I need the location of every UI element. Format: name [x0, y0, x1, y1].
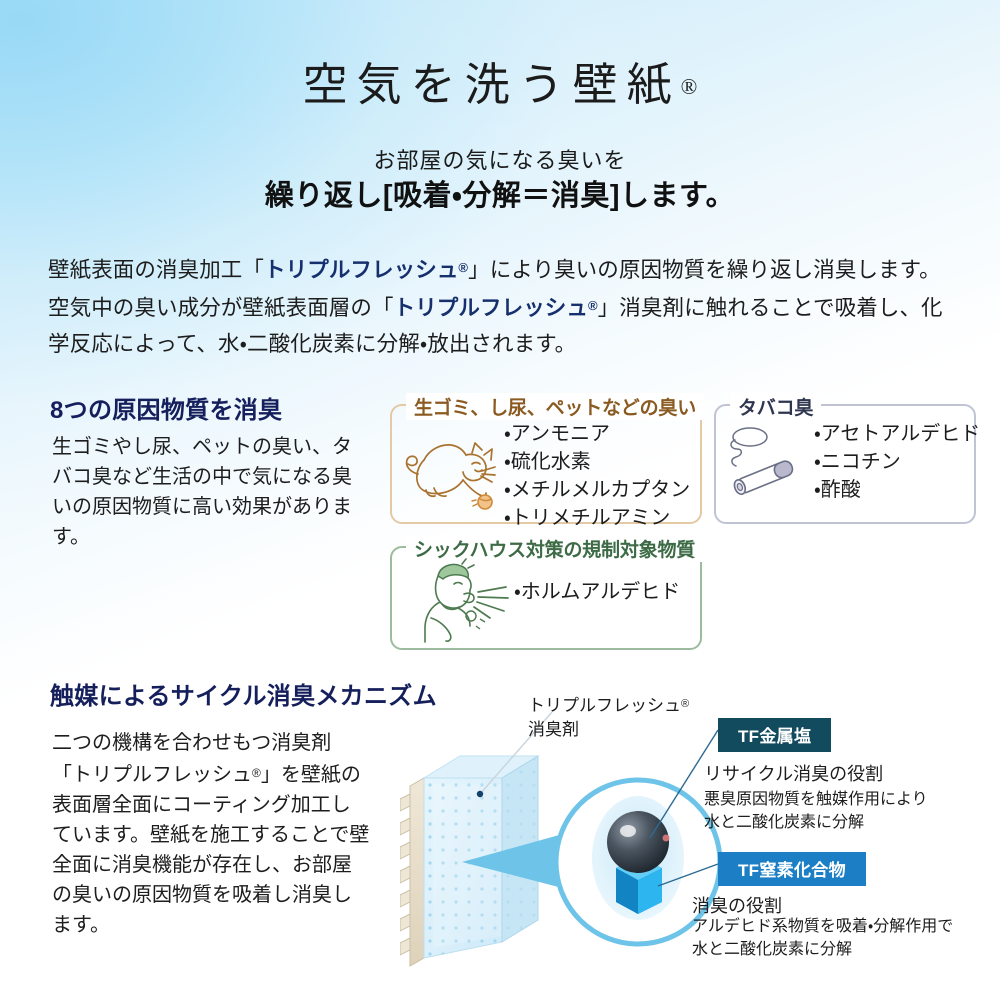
callout-line: 悪臭原因物質を触媒作用により — [704, 788, 928, 811]
sneezing-person-icon — [414, 556, 512, 646]
callout-tf-nitrogen-body: アルデヒド系物質を吸着・分解作用で 水と二酸化炭素に分解 — [692, 915, 953, 961]
registered-mark-icon: ® — [588, 298, 598, 313]
list-item: ・酢酸 — [814, 476, 980, 504]
odor-section-body: 生ゴミやし尿、ペットの臭い、タバコ臭など生活の中で気になる臭いの原因物質に高い効… — [52, 432, 352, 552]
callout-line: アルデヒド系物質を吸着・分解作用で — [692, 915, 953, 938]
diagram-wallpaper-label: トリプルフレッシュ® 消臭剤 — [528, 692, 689, 742]
odor-box-tobacco-items: ・アセトアルデヒド ・ニコチン ・酢酸 — [814, 420, 980, 504]
diagram-wallpaper-label-line2: 消臭剤 — [528, 718, 689, 742]
registered-mark-icon: ® — [252, 766, 261, 780]
page-root: 空気を洗う壁紙® お部屋の気になる臭いを 繰り返し[吸着・分解＝消臭]します。 … — [0, 0, 1000, 1000]
callout-line: 水と二酸化炭素に分解 — [692, 938, 953, 961]
badge-tf-metal-salt: TF金属塩 — [718, 718, 831, 752]
cat-icon — [396, 422, 504, 510]
odor-box-tobacco: タバコ臭 ・アセトアルデヒド ・ニコチン ・酢酸 — [714, 404, 976, 524]
subtitle-line-1: お部屋の気になる臭いを — [0, 143, 1000, 175]
brand-name-2: トリプルフレッシュ® — [394, 296, 598, 320]
odor-box-waste-pets-items: ・アンモニア ・硫化水素 ・メチルメルカプタン ・トリメチルアミン — [504, 420, 690, 532]
list-item: ・アンモニア — [504, 420, 690, 448]
brand-name-1-text: トリプルフレッシュ — [264, 258, 458, 282]
page-title: 空気を洗う壁紙® — [0, 48, 1000, 113]
odor-box-waste-pets: 生ゴミ、し尿、ペットなどの臭い — [390, 404, 702, 524]
odor-box-tobacco-legend: タバコ臭 — [730, 393, 821, 420]
page-title-text: 空気を洗う壁紙 — [303, 60, 681, 110]
lead-text-part-1: 壁紙表面の消臭加工「 — [48, 258, 264, 282]
odor-box-sick-house-items: ・ホルムアルデヒド — [514, 578, 680, 606]
mechanism-body-part-2: 」を壁紙の表面層全面にコーティング加工しています。壁紙を施工することで壁全面に消… — [52, 764, 369, 936]
list-item: ・硫化水素 — [504, 448, 690, 476]
mechanism-diagram: トリプルフレッシュ® 消臭剤 TF金属塩 リサイクル消臭の役割 悪臭原因物質を触… — [400, 690, 1000, 980]
brand-name-1: トリプルフレッシュ® — [264, 258, 468, 282]
registered-mark-icon: ® — [458, 260, 468, 275]
callout-line: 水と二酸化炭素に分解 — [704, 811, 928, 834]
list-item: ・メチルメルカプタン — [504, 476, 690, 504]
odor-box-waste-pets-legend: 生ゴミ、し尿、ペットなどの臭い — [406, 393, 704, 420]
subtitle-line-2: 繰り返し[吸着・分解＝消臭]します。 — [0, 172, 1000, 214]
brand-name-2-text: トリプルフレッシュ — [394, 296, 588, 320]
cigarette-icon — [718, 422, 814, 506]
list-item: ・アセトアルデヒド — [814, 420, 980, 448]
badge-tf-nitrogen-compound: TF窒素化合物 — [718, 852, 866, 886]
mechanism-section-heading: 触媒によるサイクル消臭メカニズム — [50, 676, 437, 711]
diagram-wallpaper-label-text: トリプルフレッシュ — [528, 696, 681, 715]
callout-tf-metal-salt-body: 悪臭原因物質を触媒作用により 水と二酸化炭素に分解 — [704, 788, 928, 834]
odor-section-heading: 8つの原因物質を消臭 — [50, 390, 282, 425]
list-item: ・トリメチルアミン — [504, 504, 690, 532]
list-item: ・ニコチン — [814, 448, 980, 476]
registered-mark-icon: ® — [681, 74, 698, 99]
callout-tf-metal-salt-title: リサイクル消臭の役割 — [704, 760, 883, 786]
diagram-wallpaper-label-line1: トリプルフレッシュ® — [528, 692, 689, 718]
registered-mark-icon: ® — [681, 698, 689, 710]
mechanism-section-body: 二つの機構を合わせもつ消臭剤「トリプルフレッシュ®」を壁紙の表面層全面にコーティ… — [52, 728, 370, 940]
list-item: ・ホルムアルデヒド — [514, 578, 680, 606]
lead-paragraph: 壁紙表面の消臭加工「トリプルフレッシュ®」により臭いの原因物質を繰り返し消臭しま… — [48, 250, 956, 362]
odor-box-sick-house: シックハウス対策の規制対象物質 — [390, 546, 702, 650]
